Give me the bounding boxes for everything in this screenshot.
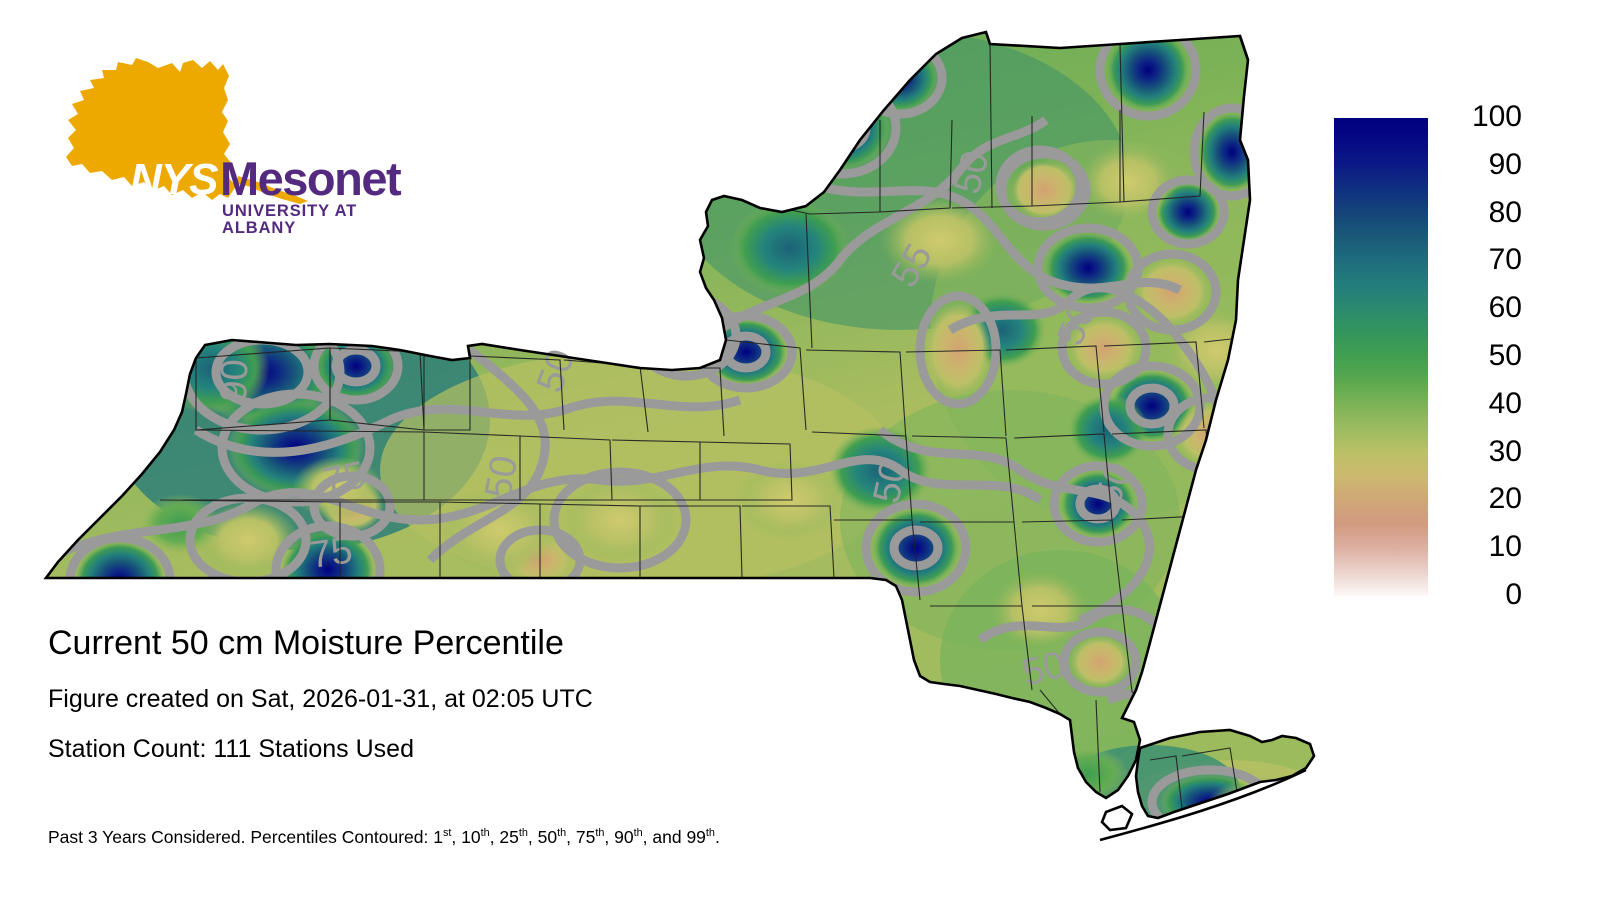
colorbar-tick-20: 20: [1436, 484, 1522, 514]
svg-text:75: 75: [307, 529, 355, 576]
colorbar-tick-10: 10: [1436, 532, 1522, 562]
page-title: Current 50 cm Moisture Percentile: [48, 626, 1068, 662]
svg-text:50: 50: [478, 453, 527, 502]
svg-text:90: 90: [213, 359, 256, 403]
colorbar-tick-50: 50: [1436, 341, 1522, 371]
station-count: Station Count: 111 Stations Used: [48, 736, 1068, 762]
colorbar-tick-100: 100: [1436, 102, 1522, 132]
colorbar-tick-60: 60: [1436, 293, 1522, 323]
colorbar: 100 90 80 70 60 50 40 30 20 10 0: [1334, 118, 1584, 608]
colorbar-tick-70: 70: [1436, 245, 1522, 275]
caption-block: Current 50 cm Moisture Percentile Figure…: [48, 626, 1068, 762]
colorbar-tick-30: 30: [1436, 437, 1522, 467]
map-panel: 90 75 75 50 50 50 50 55 50 50 50: [0, 0, 1320, 900]
contour-footnote: Past 3 Years Considered. Percentiles Con…: [48, 828, 720, 847]
colorbar-tick-80: 80: [1436, 198, 1522, 228]
colorbar-tick-90: 90: [1436, 150, 1522, 180]
created-timestamp: Figure created on Sat, 2026-01-31, at 02…: [48, 686, 1068, 712]
colorbar-gradient: [1334, 118, 1428, 596]
moisture-percentile-map: 90 75 75 50 50 50 50 55 50 50 50: [0, 0, 1320, 900]
colorbar-tick-40: 40: [1436, 389, 1522, 419]
svg-text:75: 75: [319, 454, 369, 504]
colorbar-tick-labels: 100 90 80 70 60 50 40 30 20 10 0: [1436, 118, 1556, 596]
colorbar-tick-0: 0: [1436, 580, 1522, 610]
